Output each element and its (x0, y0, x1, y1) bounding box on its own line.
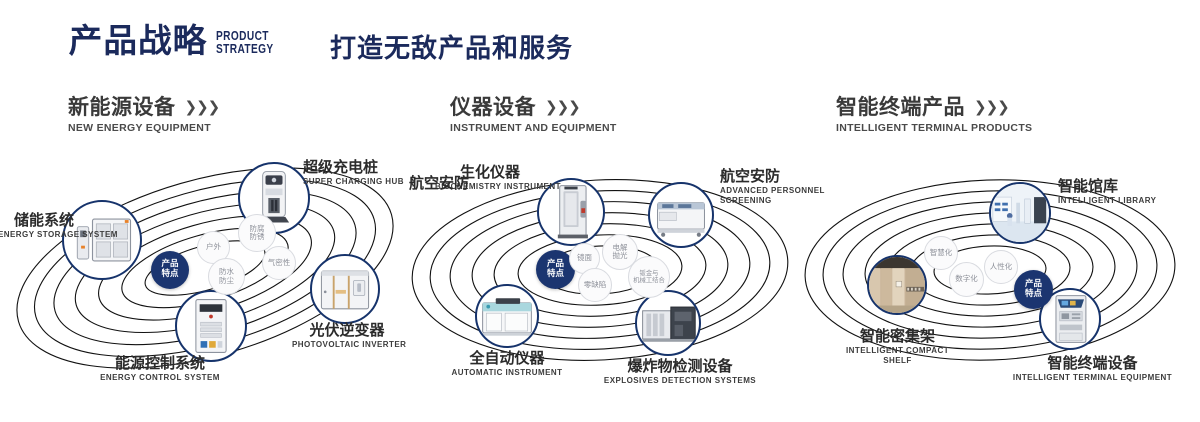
section-heading-new-energy-en: NEW ENERGY EQUIPMENT (68, 122, 219, 134)
feature-bubble-text: 气密性 (268, 259, 291, 267)
label-en: ENERGY STORAGE SYSTEM (0, 230, 74, 240)
product-node-energy-storage-system[interactable] (62, 200, 142, 280)
label-energy-storage-system: 储能系统 ENERGY STORAGE SYSTEM (0, 212, 74, 240)
section-heading-new-energy-cn: 新能源设备 ❯❯❯ (68, 96, 219, 118)
label-energy-control-system: 能源控制系统 ENERGY CONTROL SYSTEM (60, 355, 260, 383)
label-en: ENERGY CONTROL SYSTEM (60, 373, 260, 383)
section-heading-intelligent-cn: 智能终端产品 ❯❯❯ (836, 96, 1032, 118)
label-en: INTELLIGENT TERMINAL EQUIPMENT (985, 373, 1200, 383)
automatic-analyzer-icon (477, 286, 537, 346)
control-cabinet-icon (177, 292, 245, 360)
feature-bubble-text: 零缺陷 (584, 281, 607, 289)
feature-bubble-text: 智慧化 (930, 249, 953, 257)
screening-machine-icon (650, 184, 712, 246)
feature-bubble-text: 数字化 (955, 275, 978, 283)
explosives-detector-icon (637, 292, 699, 354)
label-explosives-detection: 爆炸物检测设备 EXPLOSIVES DETECTION SYSTEMS (585, 358, 775, 386)
core-bubble-text: 产品特点 (1025, 280, 1042, 299)
label-en: SUPER CHARGING HUB (303, 177, 404, 187)
feature-bubble-sheet-metal-machining: 钣金与机械工结合 (628, 256, 670, 298)
feature-bubble-intelligentization: 智慧化 (924, 236, 958, 270)
section-heading-instrument-cn: 仪器设备 ❯❯❯ (450, 96, 617, 118)
section-heading-instrument-en: INSTRUMENT AND EQUIPMENT (450, 122, 617, 134)
label-cn: 全自动仪器 (427, 350, 587, 367)
chevron-right-icon: ❯❯❯ (974, 100, 1009, 115)
section-heading-new-energy: 新能源设备 ❯❯❯ NEW ENERGY EQUIPMENT (68, 96, 219, 134)
page-title: 产品战略 (69, 24, 208, 57)
label-aviation-security-left: 航空安防 (409, 175, 469, 192)
feature-bubble-text: 人性化 (990, 263, 1013, 271)
instrument-cluster: 生化仪器 BIOCHEMISTRY INSTRUMENT 航空安防 航空安防 A… (400, 150, 800, 400)
smart-library-room-icon (991, 184, 1049, 242)
section-heading-intelligent: 智能终端产品 ❯❯❯ INTELLIGENT TERMINAL PRODUCTS (836, 96, 1032, 134)
chevron-right-icon: ❯❯❯ (545, 100, 580, 115)
compact-shelving-icon (869, 257, 925, 313)
page-title-english-line2: STRATEGY (216, 42, 274, 55)
product-node-intelligent-library[interactable] (989, 182, 1051, 244)
label-en: INTELLIGENT LIBRARY (1058, 196, 1156, 206)
feature-bubble-text: 镜面 (577, 254, 592, 262)
new-energy-cluster: 储能系统 ENERGY STORAGE SYSTEM 超级充电桩 SUPER C… (10, 150, 410, 400)
page-title-english: PRODUCT STRATEGY (216, 29, 274, 55)
label-cn: 能源控制系统 (60, 355, 260, 372)
section-label: 仪器设备 (450, 96, 536, 118)
feature-bubble-text: 电解抛光 (613, 244, 628, 261)
label-automatic-instrument: 全自动仪器 AUTOMATIC INSTRUMENT (427, 350, 587, 378)
label-intelligent-terminal-equipment: 智能终端设备 INTELLIGENT TERMINAL EQUIPMENT (985, 355, 1200, 383)
label-cn: 储能系统 (0, 212, 74, 229)
feature-bubble-humanization: 人性化 (984, 250, 1018, 284)
section-label: 新能源设备 (68, 96, 176, 118)
section-heading-intelligent-en: INTELLIGENT TERMINAL PRODUCTS (836, 122, 1032, 134)
label-en: PHOTOVOLTAIC INVERTER (292, 340, 402, 350)
label-intelligent-compact-shelf: 智能密集架 INTELLIGENT COMPACTSHELF (815, 328, 980, 366)
pv-inverter-icon (312, 256, 378, 322)
chevron-right-icon: ❯❯❯ (185, 100, 220, 115)
label-cn: 爆炸物检测设备 (585, 358, 775, 375)
header-title-block: 产品战略 PRODUCT STRATEGY (70, 24, 290, 57)
label-en: EXPLOSIVES DETECTION SYSTEMS (585, 376, 775, 386)
label-en: AUTOMATIC INSTRUMENT (427, 368, 587, 378)
page-subtitle: 打造无敌产品和服务 (330, 36, 573, 62)
feature-bubble-text: 户外 (206, 243, 221, 251)
intelligent-cluster: 智能馆库 INTELLIGENT LIBRARY 智能密集架 (790, 150, 1190, 400)
label-cn: 航空安防 (409, 175, 469, 192)
product-node-advanced-personnel-screening[interactable] (648, 182, 714, 248)
energy-storage-cabinet-icon (64, 202, 140, 278)
feature-bubble-text: 防腐防锈 (250, 225, 265, 242)
product-node-explosives-detection[interactable] (635, 290, 701, 356)
section-label: 智能终端产品 (836, 96, 965, 118)
feature-bubble-zero-defect: 零缺陷 (578, 268, 612, 302)
label-photovoltaic-inverter: 光伏逆变器 PHOTOVOLTAIC INVERTER (292, 322, 402, 350)
label-cn: 智能密集架 (815, 328, 980, 345)
core-bubble-text: 产品特点 (547, 260, 564, 279)
feature-bubble-text: 防水防尘 (219, 268, 234, 285)
slide-canvas: 产品战略 PRODUCT STRATEGY 打造无敌产品和服务 新能源设备 ❯❯… (0, 0, 1200, 422)
label-cn: 智能馆库 (1058, 178, 1156, 195)
label-intelligent-library: 智能馆库 INTELLIGENT LIBRARY (1058, 178, 1156, 206)
product-node-intelligent-compact-shelf[interactable] (867, 255, 927, 315)
core-bubble-product-features: 产品特点 (151, 251, 189, 289)
feature-bubble-digitalization: 数字化 (949, 262, 984, 297)
label-cn: 光伏逆变器 (292, 322, 402, 339)
label-super-charging-hub: 超级充电桩 SUPER CHARGING HUB (303, 159, 404, 187)
product-node-automatic-instrument[interactable] (475, 284, 539, 348)
section-heading-instrument: 仪器设备 ❯❯❯ INSTRUMENT AND EQUIPMENT (450, 96, 617, 134)
feature-bubble-airtightness: 气密性 (262, 246, 296, 280)
label-en: INTELLIGENT COMPACTSHELF (815, 346, 980, 366)
feature-bubble-waterproof: 防水防尘 (208, 258, 245, 295)
product-node-energy-control-system[interactable] (175, 290, 247, 362)
label-cn: 智能终端设备 (985, 355, 1200, 372)
product-node-photovoltaic-inverter[interactable] (310, 254, 380, 324)
core-bubble-text: 产品特点 (161, 260, 178, 279)
core-bubble-product-features: 产品特点 (1014, 270, 1053, 309)
feature-bubble-text: 钣金与机械工结合 (633, 270, 664, 284)
feature-bubble-anticorrosion: 防腐防锈 (238, 214, 276, 252)
label-cn: 超级充电桩 (303, 159, 404, 176)
